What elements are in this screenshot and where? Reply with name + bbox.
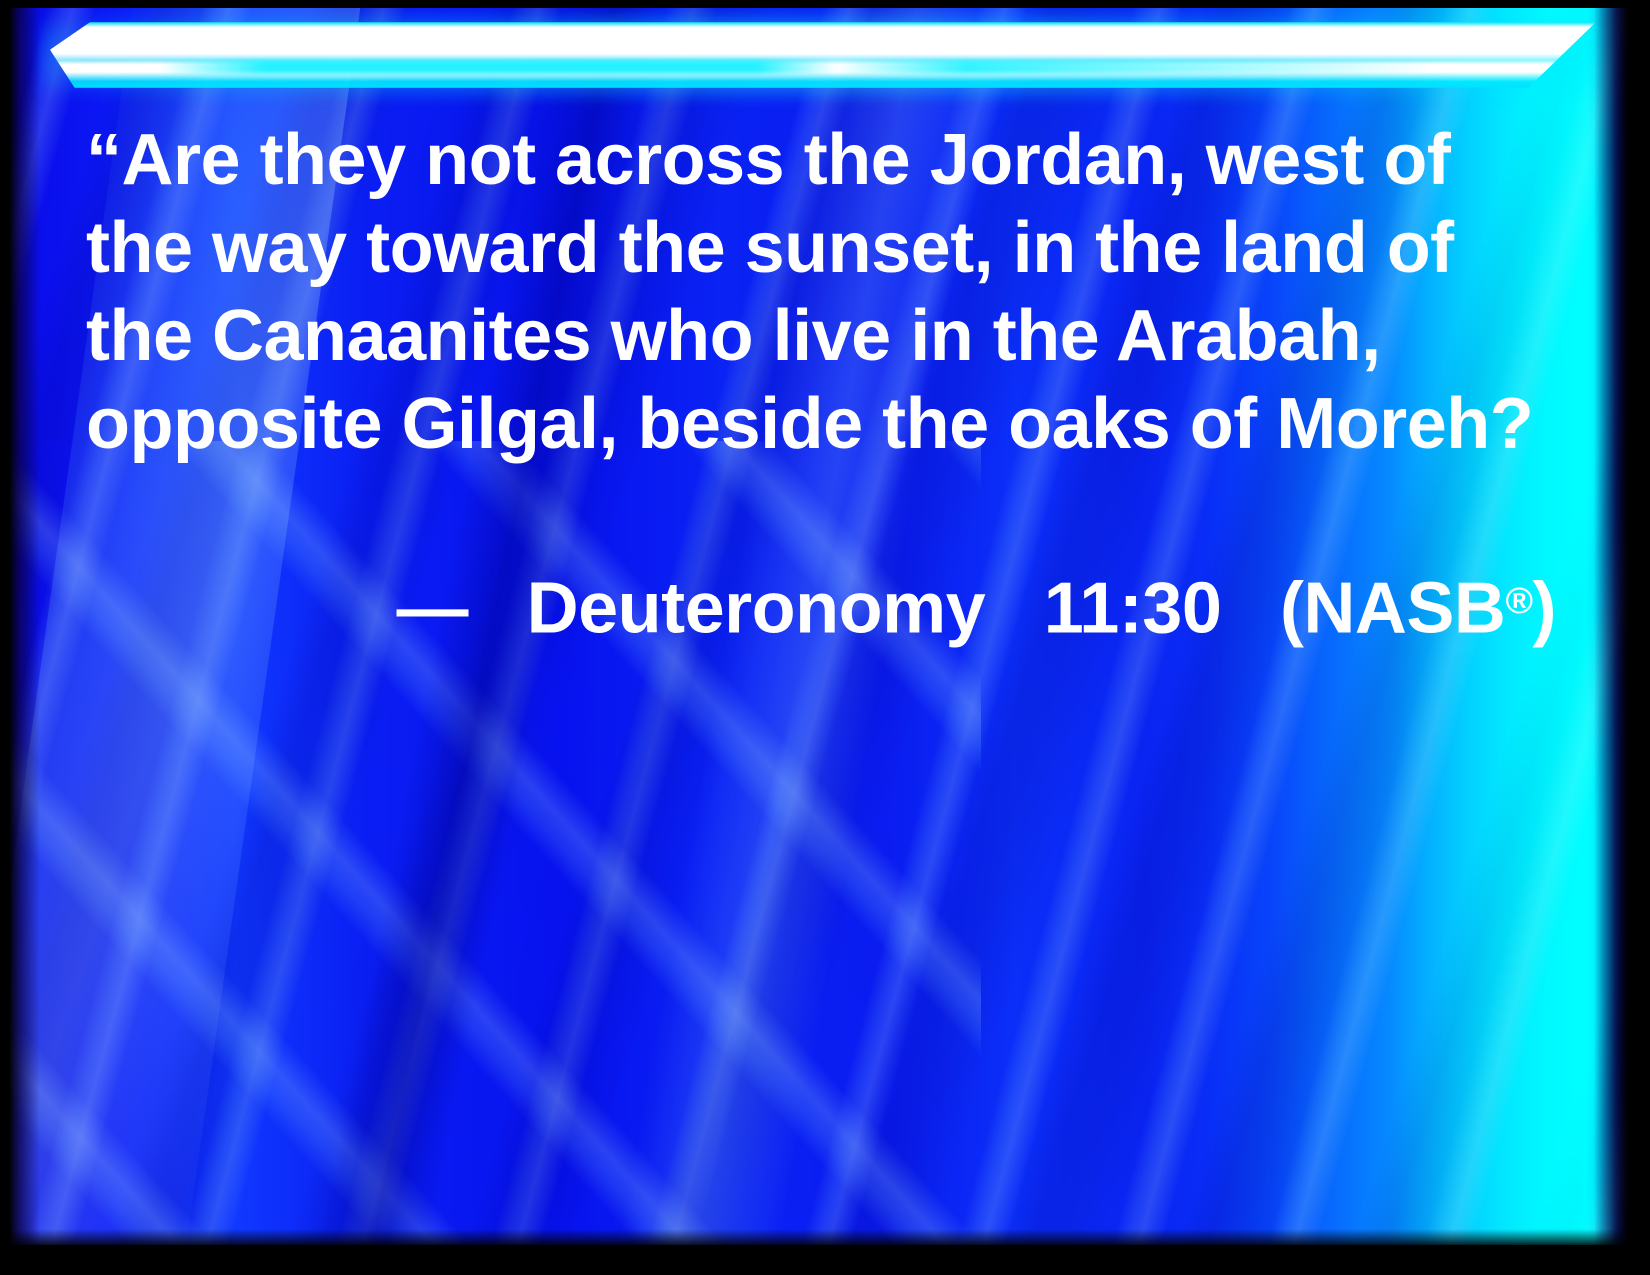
scripture-slide: “Are they not across the Jordan, west of… [0,0,1650,1275]
attribution-spacer-2 [1005,568,1025,648]
registered-trademark-icon: ® [1505,579,1532,621]
attribution-dash: — [397,568,469,648]
attribution-spacer [488,568,508,648]
attribution-version-close: ) [1533,568,1556,648]
scripture-quote-text: “Are they not across the Jordan, west of… [86,116,1556,468]
attribution-spacer-3 [1241,568,1261,648]
attribution-version-open: (NASB [1280,568,1506,648]
scripture-attribution: — Deuteronomy 11:30 (NASB®) [86,556,1570,652]
text-layer: “Are they not across the Jordan, west of… [10,8,1628,1245]
attribution-chapter-verse: 11:30 [1044,568,1222,648]
slide-content-frame: “Are they not across the Jordan, west of… [10,8,1628,1245]
attribution-book: Deuteronomy [527,568,986,648]
